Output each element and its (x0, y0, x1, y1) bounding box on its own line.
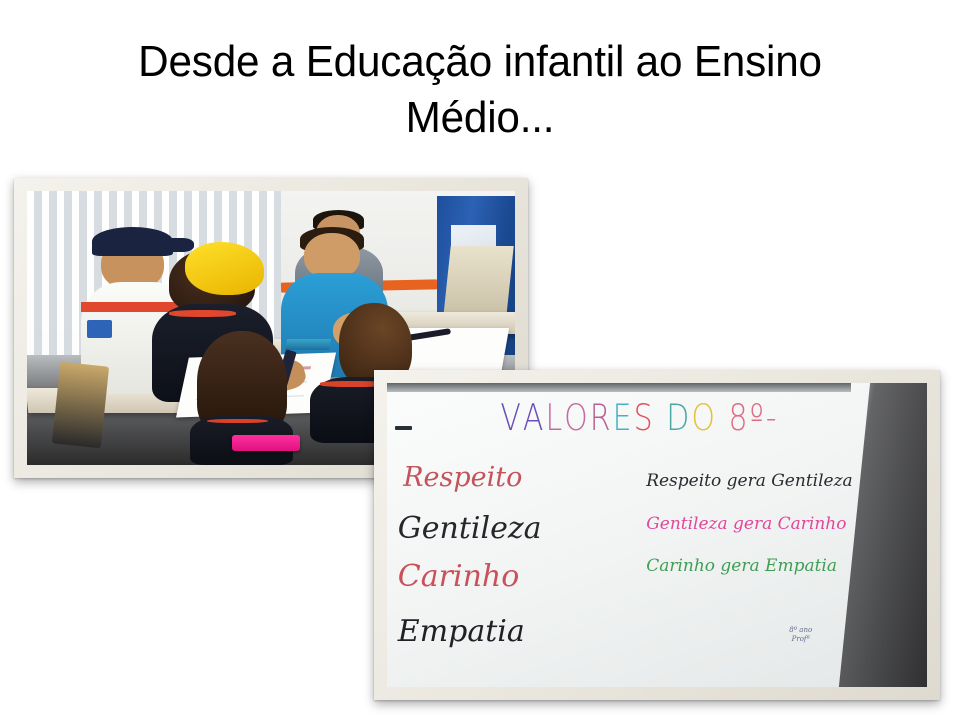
wooden-chair (52, 361, 109, 448)
heading-letter-3: O (564, 397, 590, 440)
whiteboard-heading: VALORES DO 8º- (500, 401, 778, 436)
heading-letter-11: 8 (729, 397, 750, 440)
slide-canvas: Desde a Educação infantil ao Ensino Médi… (0, 0, 960, 720)
value-respeito: Respeito (403, 462, 522, 493)
heading-letter-12: º (750, 397, 766, 440)
value-empatia: Empatia (398, 614, 525, 649)
value-carinho: Carinho (398, 559, 519, 594)
heading-letter-5: E (613, 397, 634, 440)
heading-letter-8: D (666, 397, 691, 440)
heading-letter-6: S (634, 397, 655, 440)
pink-pencil-case (232, 435, 300, 451)
yellow-head-wrap (185, 242, 264, 294)
heading-letter-7 (655, 397, 667, 440)
whiteboard-scene: VALORES DO 8º- Respeito Gentileza Carinh… (387, 383, 927, 687)
heading-letter-13: - (766, 397, 779, 440)
phrase-respeito-gera-gentileza: Respeito gera Gentileza (646, 471, 853, 491)
whiteboard-marker-smudge (395, 426, 412, 430)
heading-letter-10 (717, 397, 729, 440)
heading-letter-9: O (691, 397, 717, 440)
heading-letter-2: L (545, 397, 564, 440)
heading-letter-1: A (523, 397, 546, 440)
heading-letter-4: R (590, 397, 613, 440)
empty-chair (443, 246, 514, 317)
whiteboard-top-edge (387, 383, 851, 392)
heading-letter-0: V (500, 397, 523, 440)
whiteboard-photo-image: VALORES DO 8º- Respeito Gentileza Carinh… (387, 383, 927, 687)
whiteboard-signature: 8º ano Profª (789, 626, 812, 644)
phrase-carinho-gera-empatia: Carinho gera Empatia (646, 556, 837, 576)
photo-whiteboard-valores[interactable]: VALORES DO 8º- Respeito Gentileza Carinh… (374, 370, 940, 700)
photo-mat: VALORES DO 8º- Respeito Gentileza Carinh… (387, 383, 927, 687)
phrase-gentileza-gera-carinho: Gentileza gera Carinho (646, 514, 846, 534)
page-title: Desde a Educação infantil ao Ensino Médi… (19, 34, 941, 146)
value-gentileza: Gentileza (398, 511, 542, 546)
